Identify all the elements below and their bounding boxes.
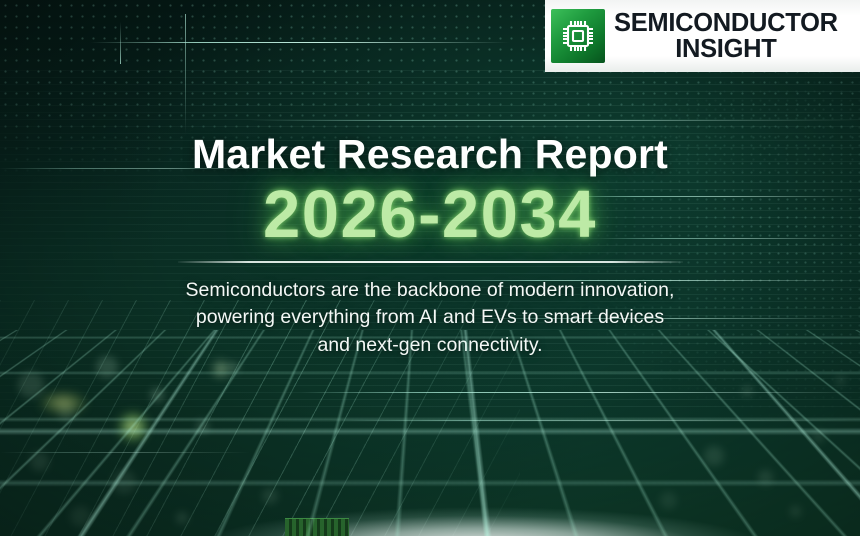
bottom-light-band <box>0 466 860 536</box>
page-title: Market Research Report <box>0 130 860 178</box>
description-line-1: Semiconductors are the backbone of moder… <box>130 277 730 305</box>
brand-line-1: SEMICONDUCTOR <box>614 9 838 37</box>
description-line-2: powering everything from AI and EVs to s… <box>130 304 730 332</box>
brand-wordmark: SEMICONDUCTOR INSIGHT <box>614 10 838 62</box>
divider-rule <box>178 261 683 263</box>
hero-content: Market Research Report 2026-2034 Semicon… <box>0 130 860 360</box>
chip-module-graphic <box>285 518 349 536</box>
brand-logo-panel[interactable]: SEMICONDUCTOR INSIGHT <box>545 0 860 72</box>
brand-line-2: INSIGHT <box>614 36 838 62</box>
market-research-report-banner: SEMICONDUCTOR INSIGHT Market Research Re… <box>0 0 860 536</box>
description-line-3: and next-gen connectivity. <box>130 332 730 360</box>
hero-description: Semiconductors are the backbone of moder… <box>130 277 730 360</box>
year-range: 2026-2034 <box>0 179 860 251</box>
microchip-icon <box>551 9 605 63</box>
